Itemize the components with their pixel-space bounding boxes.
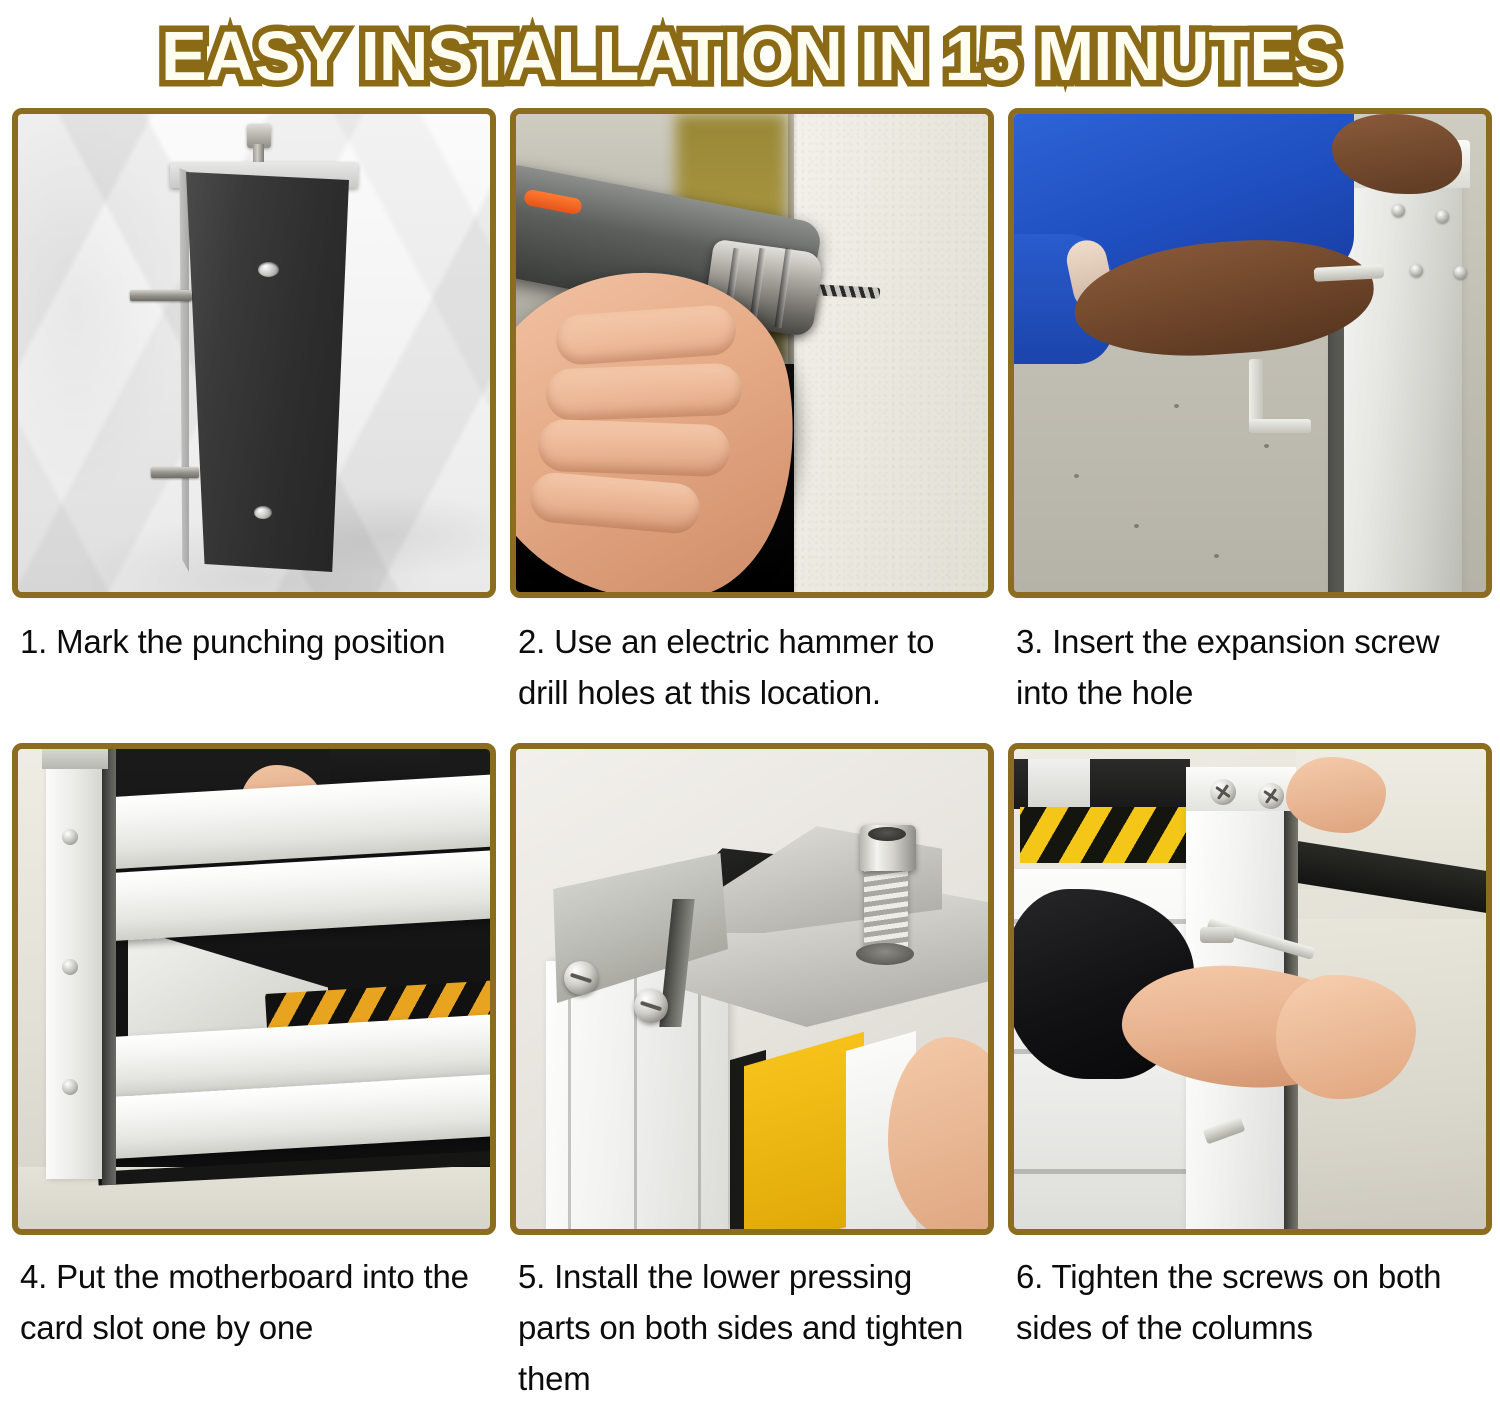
step-caption-4: 4. Put the motherboard into the card slo…: [12, 1235, 496, 1353]
step-caption-2: 2. Use an electric hammer to drill holes…: [510, 598, 994, 743]
step-photo-3: [1014, 114, 1486, 592]
step-caption-5: 5. Install the lower pressing parts on b…: [510, 1235, 994, 1404]
step-photo-4: [18, 749, 490, 1229]
step-cell-1: 1. Mark the punching position: [12, 108, 496, 743]
steps-row-bottom: 4. Put the motherboard into the card slo…: [8, 743, 1492, 1404]
page-title-bar: EASY INSTALLATION IN 15 MINUTES: [0, 0, 1500, 108]
step-caption-3: 3. Insert the expansion screw into the h…: [1008, 598, 1492, 743]
step-image-frame-4: [12, 743, 496, 1235]
step-photo-1: [18, 114, 490, 592]
step-caption-1: 1. Mark the punching position: [12, 598, 496, 743]
step-cell-5: 5. Install the lower pressing parts on b…: [510, 743, 994, 1404]
steps-row-top: 1. Mark the punching position: [8, 108, 1492, 743]
step-cell-6: 6. Tighten the screws on both sides of t…: [1008, 743, 1492, 1404]
step-photo-2: [516, 114, 988, 592]
step-image-frame-5: [510, 743, 994, 1235]
step-photo-5: [516, 749, 988, 1229]
step-cell-2: 2. Use an electric hammer to drill holes…: [510, 108, 994, 743]
step-caption-6: 6. Tighten the screws on both sides of t…: [1008, 1235, 1492, 1353]
step-image-frame-6: [1008, 743, 1492, 1235]
step-image-frame-1: [12, 108, 496, 598]
step-image-frame-3: [1008, 108, 1492, 598]
step-photo-6: [1014, 749, 1486, 1229]
step-cell-4: 4. Put the motherboard into the card slo…: [12, 743, 496, 1404]
page-title: EASY INSTALLATION IN 15 MINUTES: [161, 21, 1339, 91]
installation-steps-grid: 1. Mark the punching position: [0, 108, 1500, 1404]
step-image-frame-2: [510, 108, 994, 598]
step-cell-3: 3. Insert the expansion screw into the h…: [1008, 108, 1492, 743]
